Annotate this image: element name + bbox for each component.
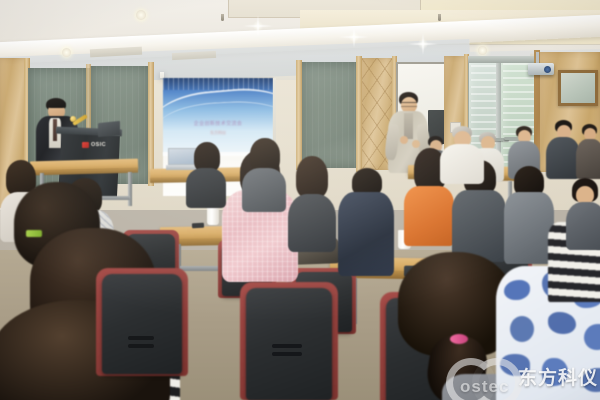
audience-near-screen-1 <box>186 142 226 204</box>
chair-vent-3 <box>272 344 302 348</box>
audience-near-screen-2 <box>242 138 286 208</box>
ceiling-spotlight-1 <box>136 10 146 20</box>
acoustic-panel-3 <box>300 62 362 168</box>
chair-foreground-left[interactable] <box>102 274 182 374</box>
presenter-hand-right <box>412 140 420 148</box>
projector-lens-icon <box>544 66 551 73</box>
audience-right-edge <box>566 178 600 248</box>
body <box>186 168 226 208</box>
chair-vent-4 <box>272 352 302 356</box>
ceiling-spotlight-3 <box>334 22 374 52</box>
ceiling-spotlight-5 <box>62 48 71 57</box>
presenter-glasses-icon <box>401 102 417 107</box>
ceiling-projector <box>528 63 554 75</box>
body <box>242 168 286 212</box>
hair-tie-pink <box>450 334 468 344</box>
podium-laptop[interactable] <box>98 121 120 137</box>
phone-on-desk[interactable] <box>192 223 204 229</box>
chair-vent-1 <box>128 336 154 340</box>
body <box>566 202 600 250</box>
presenter-hand-left <box>400 136 408 144</box>
body <box>440 144 484 184</box>
audience-mid-navy <box>338 168 394 274</box>
audience-mid-3 <box>504 166 554 262</box>
ceiling-spotlight-6 <box>478 46 487 55</box>
panel-divider-2 <box>148 62 154 186</box>
body <box>288 194 336 252</box>
sprinkler-head-2 <box>438 14 441 21</box>
podium-logo-mark-icon <box>82 142 89 148</box>
speaker-hair-front <box>47 100 66 108</box>
audience-mid-1 <box>288 156 336 250</box>
desk-leg-2 <box>128 172 132 206</box>
hair <box>250 138 280 172</box>
body <box>404 186 454 246</box>
framed-picture <box>558 70 598 106</box>
panel-divider-4 <box>356 56 362 172</box>
audience-white-shirt-man <box>440 126 484 182</box>
slide-subtitle: 东方科仪 <box>163 130 273 136</box>
photo-scene: 企业创新技术交流会 东方科仪 OSIC <box>0 0 600 400</box>
audience-far-right-5 <box>576 124 600 178</box>
ceiling-spotlight-4 <box>404 30 442 58</box>
presenter-jacket-opening <box>404 113 413 139</box>
body <box>338 192 394 276</box>
microphone-head <box>70 116 76 122</box>
ceiling-spotlight-2 <box>236 9 280 43</box>
slide-title: 企业创新技术交流会 <box>163 120 273 127</box>
hair <box>296 156 328 198</box>
door-header <box>468 56 540 63</box>
body <box>576 139 600 179</box>
podium-logo-text: OSIC <box>91 142 106 148</box>
cup-mid-center <box>207 207 219 225</box>
sprinkler-head-1 <box>221 14 224 21</box>
podium-logo: OSIC <box>82 142 106 148</box>
chair-vent-2 <box>128 344 154 348</box>
